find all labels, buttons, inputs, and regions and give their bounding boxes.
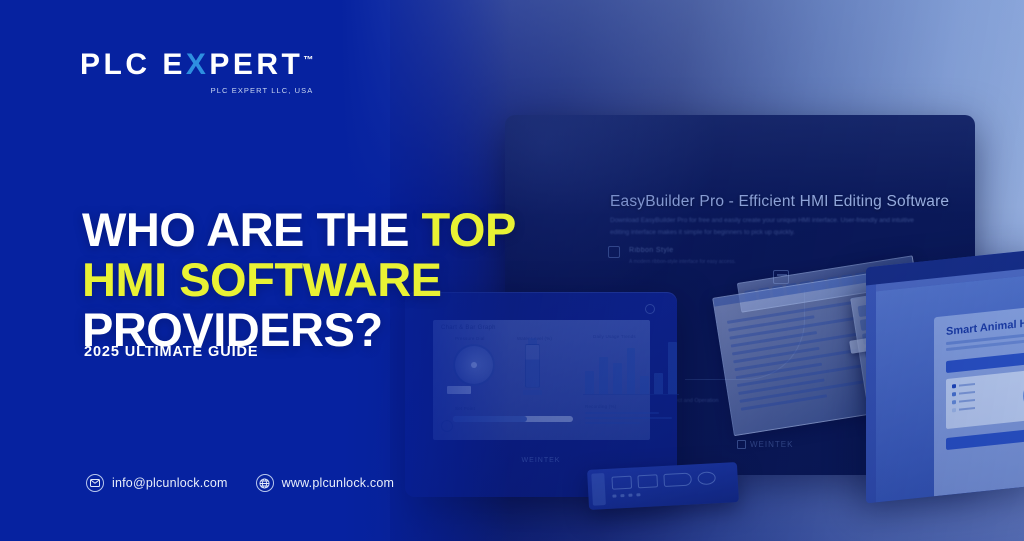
recording-label: Recording (%) (585, 404, 616, 409)
laptop-side-toolbar (866, 284, 876, 503)
logo-e-text: E (162, 48, 186, 81)
monitor-brand-label: WEINTEK (750, 440, 793, 449)
recording-rows (585, 412, 677, 427)
email-text: info@plcunlock.com (112, 476, 228, 490)
ethernet-port-icon (637, 474, 658, 488)
monitor-brand: WEINTEK (737, 440, 793, 449)
ethernet-port-icon (611, 476, 632, 490)
hero-subtitle: 2025 ULTIMATE GUIDE (84, 344, 258, 360)
laptop-device: Smart Animal H (866, 249, 1024, 504)
plc-port-row (611, 470, 732, 489)
contact-footer: info@plcunlock.com www.plcunlock.com (86, 474, 394, 492)
headline-white-1: WHO ARE THE (82, 203, 422, 256)
monitor-body-text: Download EasyBuilder Pro for free and ea… (610, 215, 930, 240)
contact-website[interactable]: www.plcunlock.com (256, 474, 394, 492)
feature-title: Ribbon Style (629, 247, 769, 254)
monitor-feature-block: Ribbon Style A modern ribbon-style inter… (629, 247, 769, 267)
logo-x-glyph: X (186, 48, 210, 81)
headline-line-1: WHO ARE THE TOP (82, 205, 516, 255)
trademark-symbol: ™ (303, 55, 313, 66)
weintek-logo-icon (737, 440, 746, 449)
usage-bar-chart (585, 342, 677, 394)
website-text: www.plcunlock.com (282, 476, 394, 490)
laptop-design-card: Smart Animal H (934, 302, 1024, 497)
laptop-chart-panel (946, 366, 1024, 429)
headline-line-2: HMI SOFTWARE (82, 255, 516, 305)
tank-base (523, 390, 542, 395)
plc-end-cap (591, 473, 606, 506)
panel-home-indicator (645, 304, 655, 314)
serial-port-icon (663, 472, 692, 486)
bar-chart-axis (583, 394, 679, 395)
bars-label: Daily Usage Trends (593, 334, 636, 339)
laptop-canvas: Smart Animal H (876, 274, 1024, 503)
ribbon-style-icon (608, 246, 620, 258)
laptop-button-login (946, 351, 1024, 373)
logo-pert-text: PERT (209, 48, 303, 81)
water-level-tank (525, 344, 540, 388)
globe-icon (256, 474, 274, 492)
headline-accent-top: TOP (422, 203, 516, 256)
plc-controller-module (587, 462, 739, 510)
laptop-button-start (946, 428, 1024, 450)
hero-headline: WHO ARE THE TOP HMI SOFTWARE PROVIDERS? (82, 205, 516, 354)
logo-wordmark: PLC EXPERT™ (80, 50, 313, 80)
promo-banner: Ribbon Style A modern ribbon-style inter… (0, 0, 1024, 541)
chart-legend (952, 382, 975, 416)
contact-email[interactable]: info@plcunlock.com (86, 474, 228, 492)
logo-subtitle: PLC EXPERT LLC, USA (80, 86, 313, 95)
brand-logo[interactable]: PLC EXPERT™ PLC EXPERT LLC, USA (80, 50, 313, 95)
monitor-headline: EasyBuilder Pro - Efficient HMI Editing … (610, 193, 960, 211)
power-port-icon (697, 471, 716, 485)
plc-status-leds (612, 493, 640, 497)
logo-plc-text: PLC (80, 48, 151, 81)
envelope-icon (86, 474, 104, 492)
